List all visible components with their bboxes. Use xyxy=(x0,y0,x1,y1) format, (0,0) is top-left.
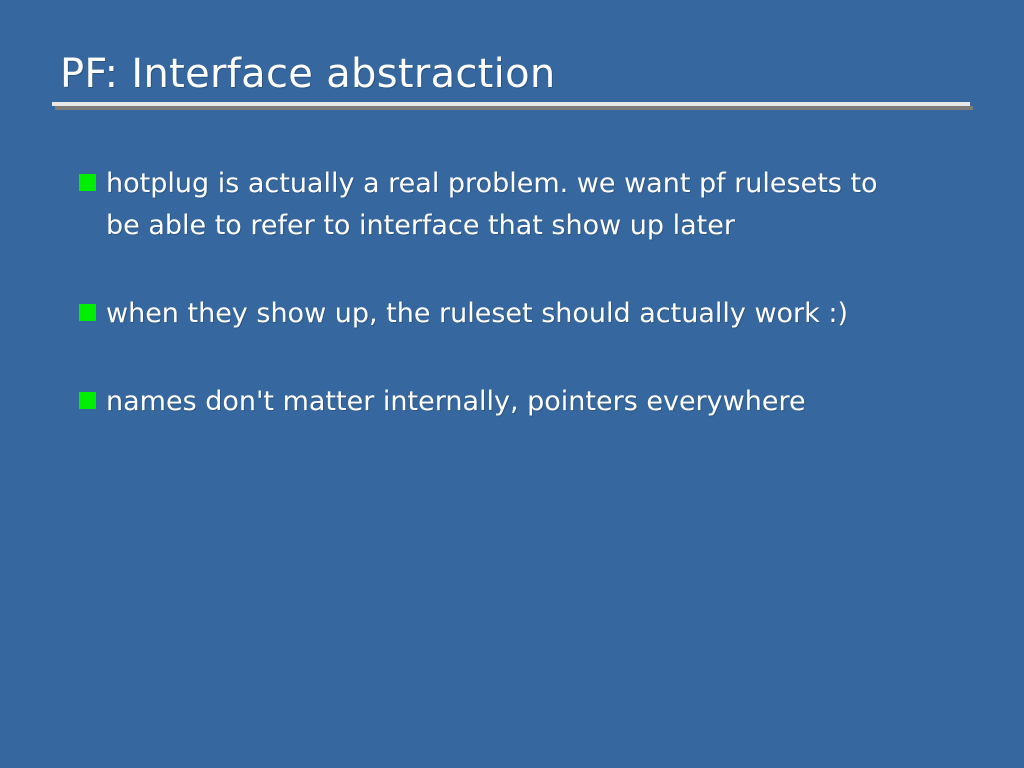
list-item: hotplug is actually a real problem. we w… xyxy=(79,163,969,247)
list-item: when they show up, the ruleset should ac… xyxy=(79,293,969,335)
list-item-text: hotplug is actually a real problem. we w… xyxy=(106,163,918,247)
slide-body: hotplug is actually a real problem. we w… xyxy=(79,163,969,423)
list-item-text: when they show up, the ruleset should ac… xyxy=(106,293,969,335)
list-item: names don't matter internally, pointers … xyxy=(79,381,969,423)
presentation-slide: PF: Interface abstraction hotplug is act… xyxy=(0,0,1024,768)
square-bullet-icon xyxy=(79,392,96,409)
slide-title-block: PF: Interface abstraction xyxy=(52,50,970,106)
page-title: PF: Interface abstraction xyxy=(52,50,970,98)
square-bullet-icon xyxy=(79,304,96,321)
list-item-text: names don't matter internally, pointers … xyxy=(106,381,969,423)
title-underline-rule xyxy=(52,102,970,106)
square-bullet-icon xyxy=(79,174,96,191)
